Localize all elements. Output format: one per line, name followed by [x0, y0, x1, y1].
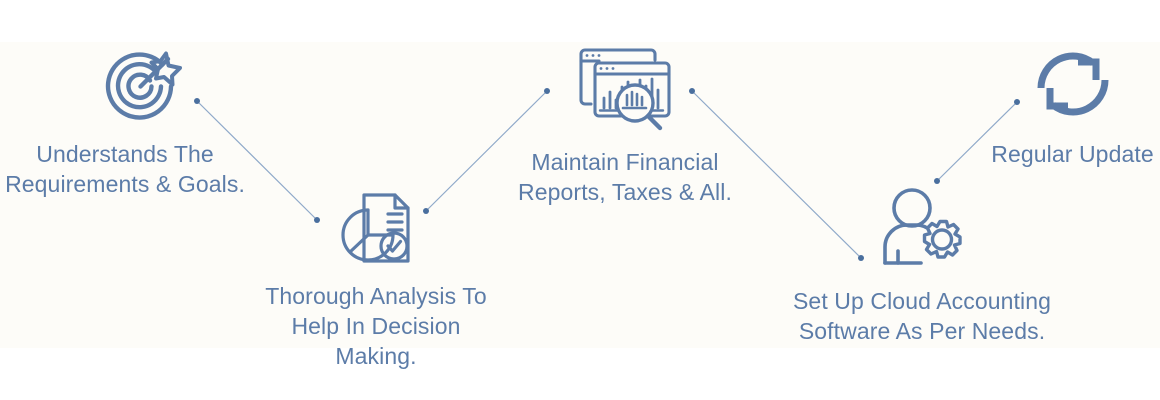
- step-setup-cloud-accounting[interactable]: Set Up Cloud Accounting Software As Per …: [790, 185, 1054, 347]
- step-label: Maintain Financial Reports, Taxes & All.: [518, 148, 732, 208]
- refresh-sync-icon: [1030, 42, 1116, 126]
- step-label: Set Up Cloud Accounting Software As Per …: [793, 287, 1051, 347]
- step-maintain-financial-reports[interactable]: Maintain Financial Reports, Taxes & All.: [500, 42, 750, 208]
- step-thorough-analysis[interactable]: Thorough Analysis To Help In Decision Ma…: [248, 188, 504, 372]
- step-label: Thorough Analysis To Help In Decision Ma…: [248, 282, 504, 372]
- step-label: Understands The Requirements & Goals.: [5, 140, 245, 200]
- step-understands-requirements[interactable]: Understands The Requirements & Goals.: [0, 48, 250, 200]
- connector-4-5-start-dot: [934, 178, 940, 184]
- target-arrow-icon: [102, 48, 188, 126]
- infographic-canvas: Understands The Requirements & Goals.: [0, 0, 1160, 400]
- user-gear-icon: [873, 185, 971, 273]
- financial-reports-magnifier-icon: [573, 42, 677, 134]
- step-label: Regular Update: [991, 140, 1154, 170]
- step-regular-update[interactable]: Regular Update: [985, 42, 1160, 170]
- pie-chart-document-icon: [332, 188, 420, 268]
